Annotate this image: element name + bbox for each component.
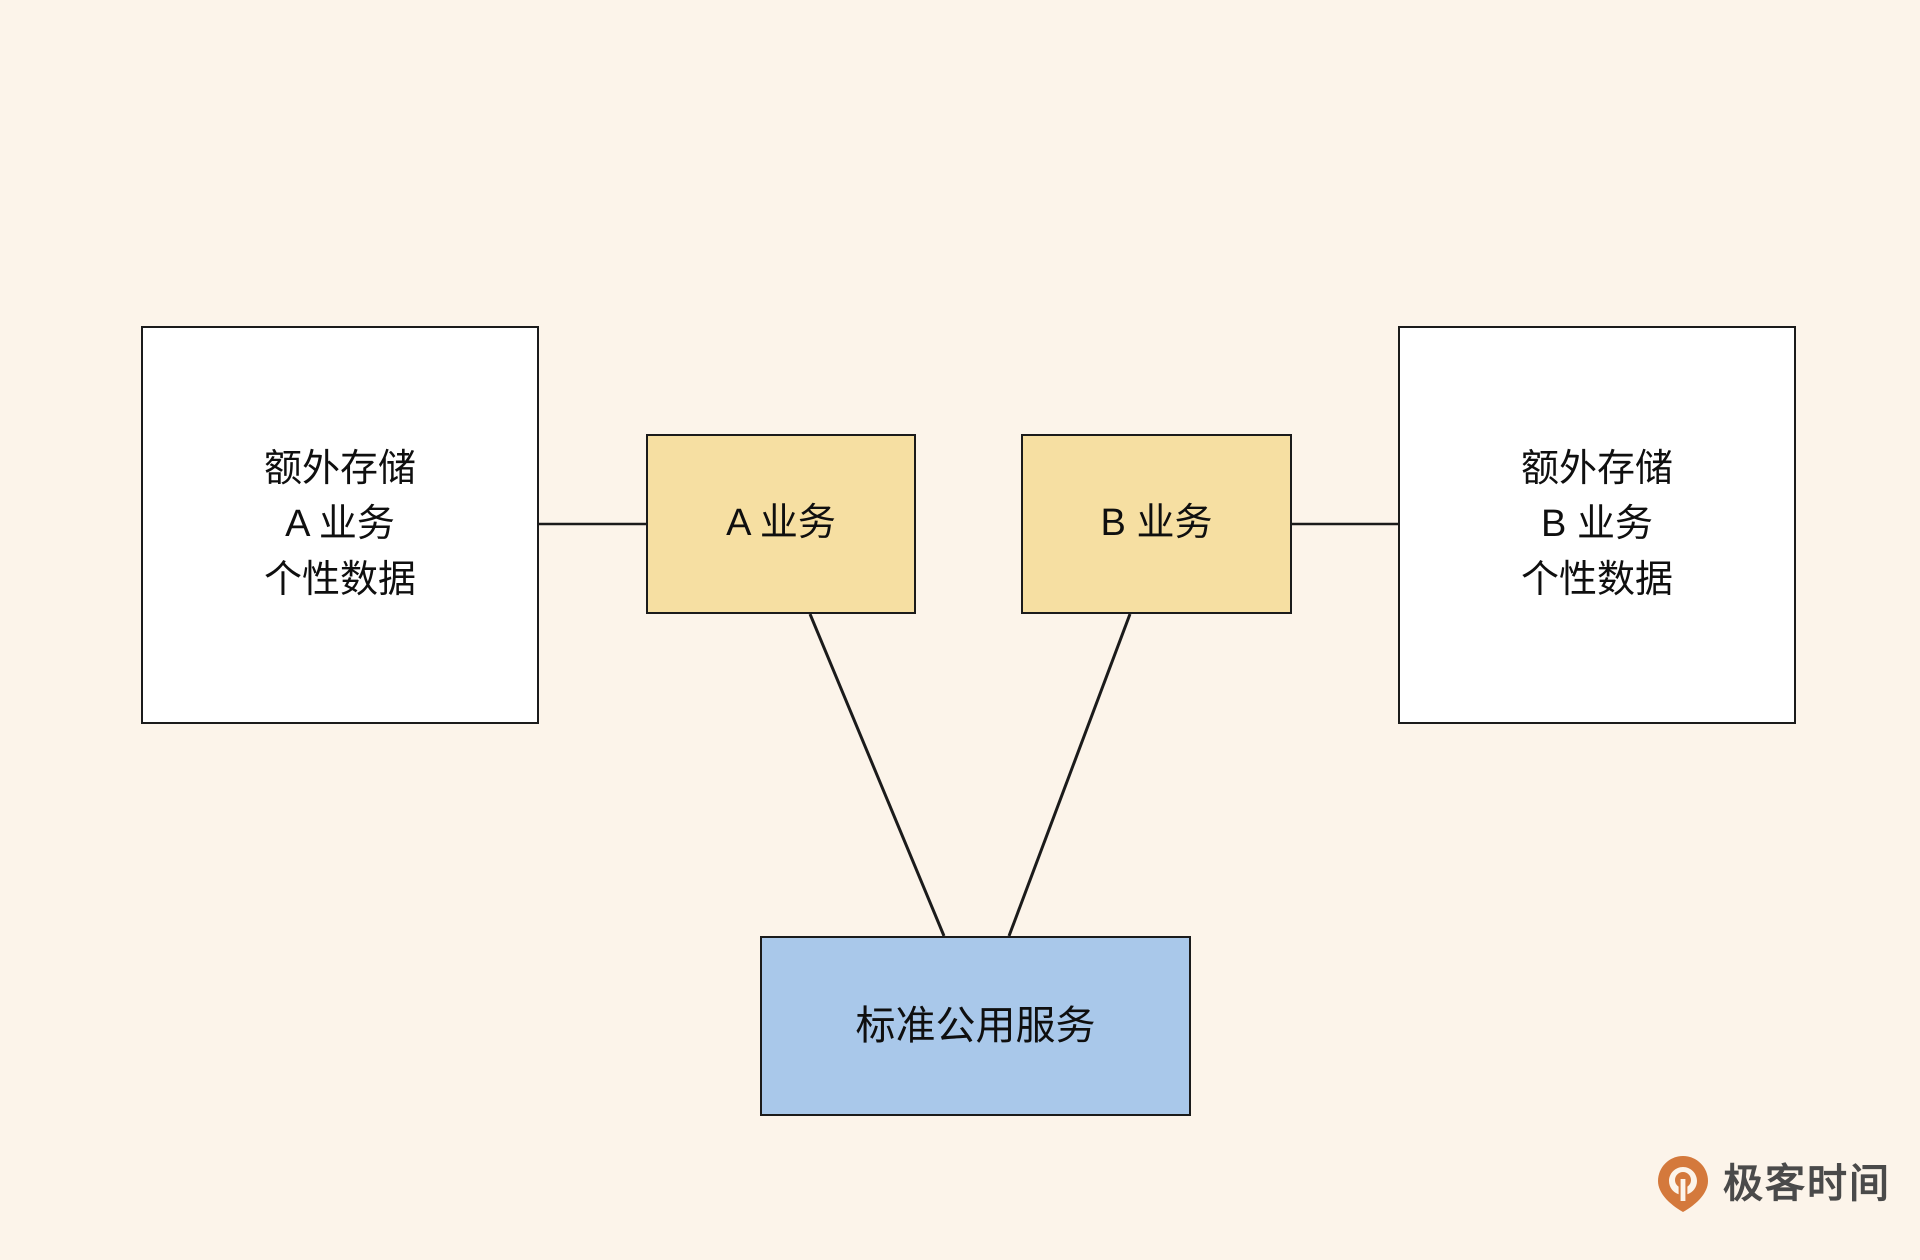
edge-service-a-to-common [810, 614, 944, 936]
node-extra-storage-a[interactable]: 额外存储 A 业务 个性数据 [141, 326, 539, 724]
node-line: 额外存储 [1521, 442, 1673, 497]
node-line: 个性数据 [264, 553, 416, 608]
edge-service-b-to-common [1009, 614, 1130, 936]
node-label: A 业务 [726, 496, 836, 551]
node-line: B 业务 [1541, 497, 1653, 552]
node-service-a[interactable]: A 业务 [646, 434, 916, 614]
node-label: B 业务 [1101, 496, 1213, 551]
node-line: A 业务 [285, 497, 395, 552]
watermark-text: 极客时间 [1723, 1164, 1891, 1204]
node-extra-storage-b[interactable]: 额外存储 B 业务 个性数据 [1398, 326, 1796, 724]
node-service-b[interactable]: B 业务 [1021, 434, 1292, 614]
diagram-canvas: 额外存储 A 业务 个性数据 A 业务 B 业务 额外存储 B 业务 个性数据 … [0, 0, 1920, 1260]
node-line: 额外存储 [264, 442, 416, 497]
node-common-service[interactable]: 标准公用服务 [760, 936, 1191, 1116]
geektime-pin-logo-icon [1657, 1155, 1709, 1213]
node-label: 标准公用服务 [856, 997, 1096, 1055]
watermark: 极客时间 [1657, 1155, 1891, 1213]
node-line: 个性数据 [1521, 553, 1673, 608]
